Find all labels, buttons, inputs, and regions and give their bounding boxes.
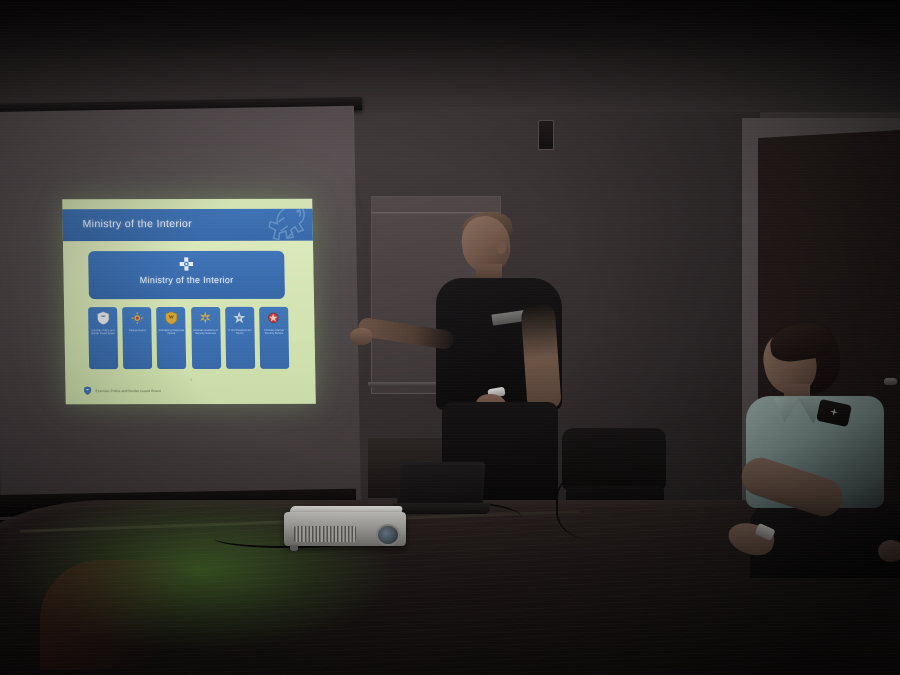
projector-vent [294, 526, 356, 542]
table-edge-glow [40, 560, 220, 670]
red-circle-emblem-icon [267, 311, 281, 325]
presenter-left-hand [350, 328, 372, 345]
gold-shield-emblem-icon [164, 311, 178, 325]
wall-speaker-icon [538, 120, 554, 150]
org-box: IT and Development Centre [225, 307, 255, 369]
adjacent-person-hand [878, 540, 900, 562]
org-box: Emergency Response Centre [156, 307, 186, 369]
org-box-row: Estonian Police and Border Guard Board R… [88, 307, 289, 369]
org-box-label: Estonian Academy of Security Sciences [192, 329, 219, 336]
ministry-cross-emblem-icon [178, 256, 194, 272]
silver-shield-emblem-icon [96, 311, 110, 325]
projected-slide: Ministry of the Interior Ministry of the… [62, 199, 316, 404]
seated-officer [722, 318, 900, 578]
slide-page-number: 2 [190, 378, 192, 382]
laptop-screen [397, 462, 485, 504]
ceiling-shadow [0, 0, 900, 60]
org-box: Rescue Board [122, 307, 152, 369]
org-box: Estonian Internal Security Service [259, 307, 289, 369]
projector-lens-icon [376, 524, 400, 546]
presenter-ear [496, 240, 506, 254]
org-box-label: Estonian Police and Border Guard Board [89, 329, 116, 336]
org-box: Estonian Police and Border Guard Board [88, 307, 118, 369]
gold-rosette-emblem-icon [130, 311, 144, 325]
org-box-label: IT and Development Centre [226, 329, 253, 336]
presentation-room-photo: Ministry of the Interior Ministry of the… [0, 0, 900, 675]
cable [556, 470, 648, 540]
projector-foot [290, 545, 298, 551]
gold-starburst-emblem-icon [198, 311, 212, 325]
org-box-label: Estonian Internal Security Service [260, 329, 287, 336]
org-box: Estonian Academy of Security Sciences [191, 307, 221, 369]
slide-title: Ministry of the Interior [83, 218, 193, 230]
silver-star-emblem-icon [232, 311, 246, 325]
slide-footer-text: Estonian Police and Border Guard Board [96, 389, 161, 393]
slide-footer: Estonian Police and Border Guard Board [83, 386, 160, 395]
slide-header: Ministry of the Interior [62, 209, 313, 241]
standing-presenter [418, 206, 588, 506]
police-border-guard-logo-icon [83, 386, 91, 395]
heraldic-lion-watermark [250, 209, 313, 241]
org-box-label: Rescue Board [124, 329, 151, 332]
main-org-label: Ministry of the Interior [89, 275, 285, 285]
slide-body: Ministry of the Interior Estonian Police… [63, 241, 316, 404]
org-box-label: Emergency Response Centre [158, 329, 185, 336]
projector[interactable] [284, 506, 410, 550]
main-org-box: Ministry of the Interior [88, 251, 285, 299]
